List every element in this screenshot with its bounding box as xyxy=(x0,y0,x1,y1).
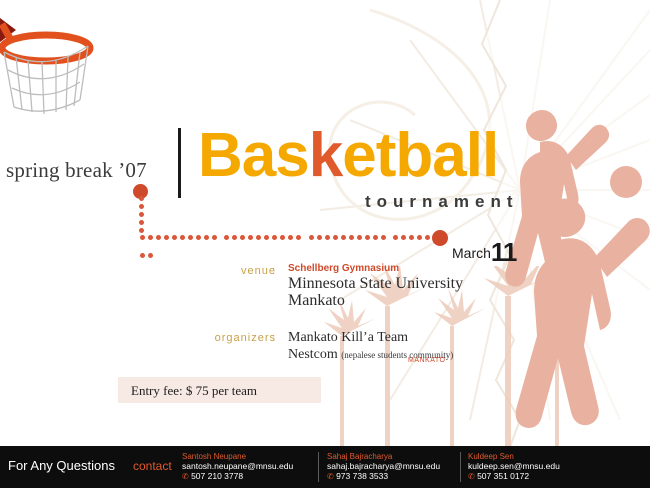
footer-separator-1 xyxy=(318,452,319,482)
telephone-icon: ✆ xyxy=(468,472,475,481)
contact-name: Santosh Neupane xyxy=(182,452,293,461)
organizer-1: Mankato Kill’a Team xyxy=(288,330,408,346)
contact-block-1: Santosh Neupane santosh.neupane@mnsu.edu… xyxy=(182,452,293,482)
contact-email[interactable]: sahaj.bajracharya@mnsu.edu xyxy=(327,461,440,471)
page-title: Basketball xyxy=(198,125,498,187)
spring-break-text: spring break ’07 xyxy=(6,158,147,183)
contact-block-3: Kuldeep Sen kuldeep.sen@mnsu.edu ✆ 507 3… xyxy=(468,452,560,482)
contact-phone: ✆ 973 738 3533 xyxy=(327,471,440,482)
venue-address: Minnesota State University Mankato xyxy=(288,275,463,309)
venue-colon: : xyxy=(272,265,275,277)
contact-phone: ✆ 507 210 3778 xyxy=(182,471,293,482)
footer-contact-label: contact xyxy=(133,459,172,473)
contact-phone-number: 973 738 3533 xyxy=(336,471,388,481)
page-subtitle: tournament xyxy=(365,192,519,212)
telephone-icon: ✆ xyxy=(327,472,334,481)
poster-canvas: spring break ’07 Basketball tournament M… xyxy=(0,0,650,488)
venue-address-line1: Minnesota State University xyxy=(288,275,463,292)
title-part-1: Bas xyxy=(198,121,309,190)
telephone-icon: ✆ xyxy=(182,472,189,481)
footer-question: For Any Questions xyxy=(8,458,115,473)
venue-gym: Schellberg Gymnasium xyxy=(288,263,399,274)
connector-dots-horizontal xyxy=(140,235,436,241)
connector-dot-right xyxy=(432,230,448,246)
title-divider xyxy=(178,128,181,198)
footer-bar: For Any Questions contact Santosh Neupan… xyxy=(0,446,650,488)
date-day: 11 xyxy=(491,237,517,267)
contact-name: Sahaj Bajracharya xyxy=(327,452,440,461)
connector-dots-vertical xyxy=(138,196,145,236)
title-part-2: etball xyxy=(342,121,498,190)
contact-block-2: Sahaj Bajracharya sahaj.bajracharya@mnsu… xyxy=(327,452,440,482)
organizer-2-city: MANKATO xyxy=(408,357,445,364)
venue-address-line2: Mankato xyxy=(288,292,463,309)
contact-phone-number: 507 210 3778 xyxy=(191,471,243,481)
contact-email[interactable]: kuldeep.sen@mnsu.edu xyxy=(468,461,560,471)
organizer-2-name: Nestcom xyxy=(288,347,338,362)
basketball-hoop-icon xyxy=(0,12,114,137)
contact-phone-number: 507 351 0172 xyxy=(477,471,529,481)
entry-fee-text: Entry fee: $ 75 per team xyxy=(131,383,257,399)
title-part-k: k xyxy=(309,121,342,190)
organizers-label: organizers xyxy=(196,332,276,344)
contact-name: Kuldeep Sen xyxy=(468,452,560,461)
venue-label: venue xyxy=(196,265,276,277)
contact-email[interactable]: santosh.neupane@mnsu.edu xyxy=(182,461,293,471)
footer-separator-2 xyxy=(460,452,461,482)
event-date: March11 xyxy=(452,237,516,268)
date-month: March xyxy=(452,245,491,261)
organizers-colon: : xyxy=(272,332,275,344)
contact-phone: ✆ 507 351 0172 xyxy=(468,471,560,482)
